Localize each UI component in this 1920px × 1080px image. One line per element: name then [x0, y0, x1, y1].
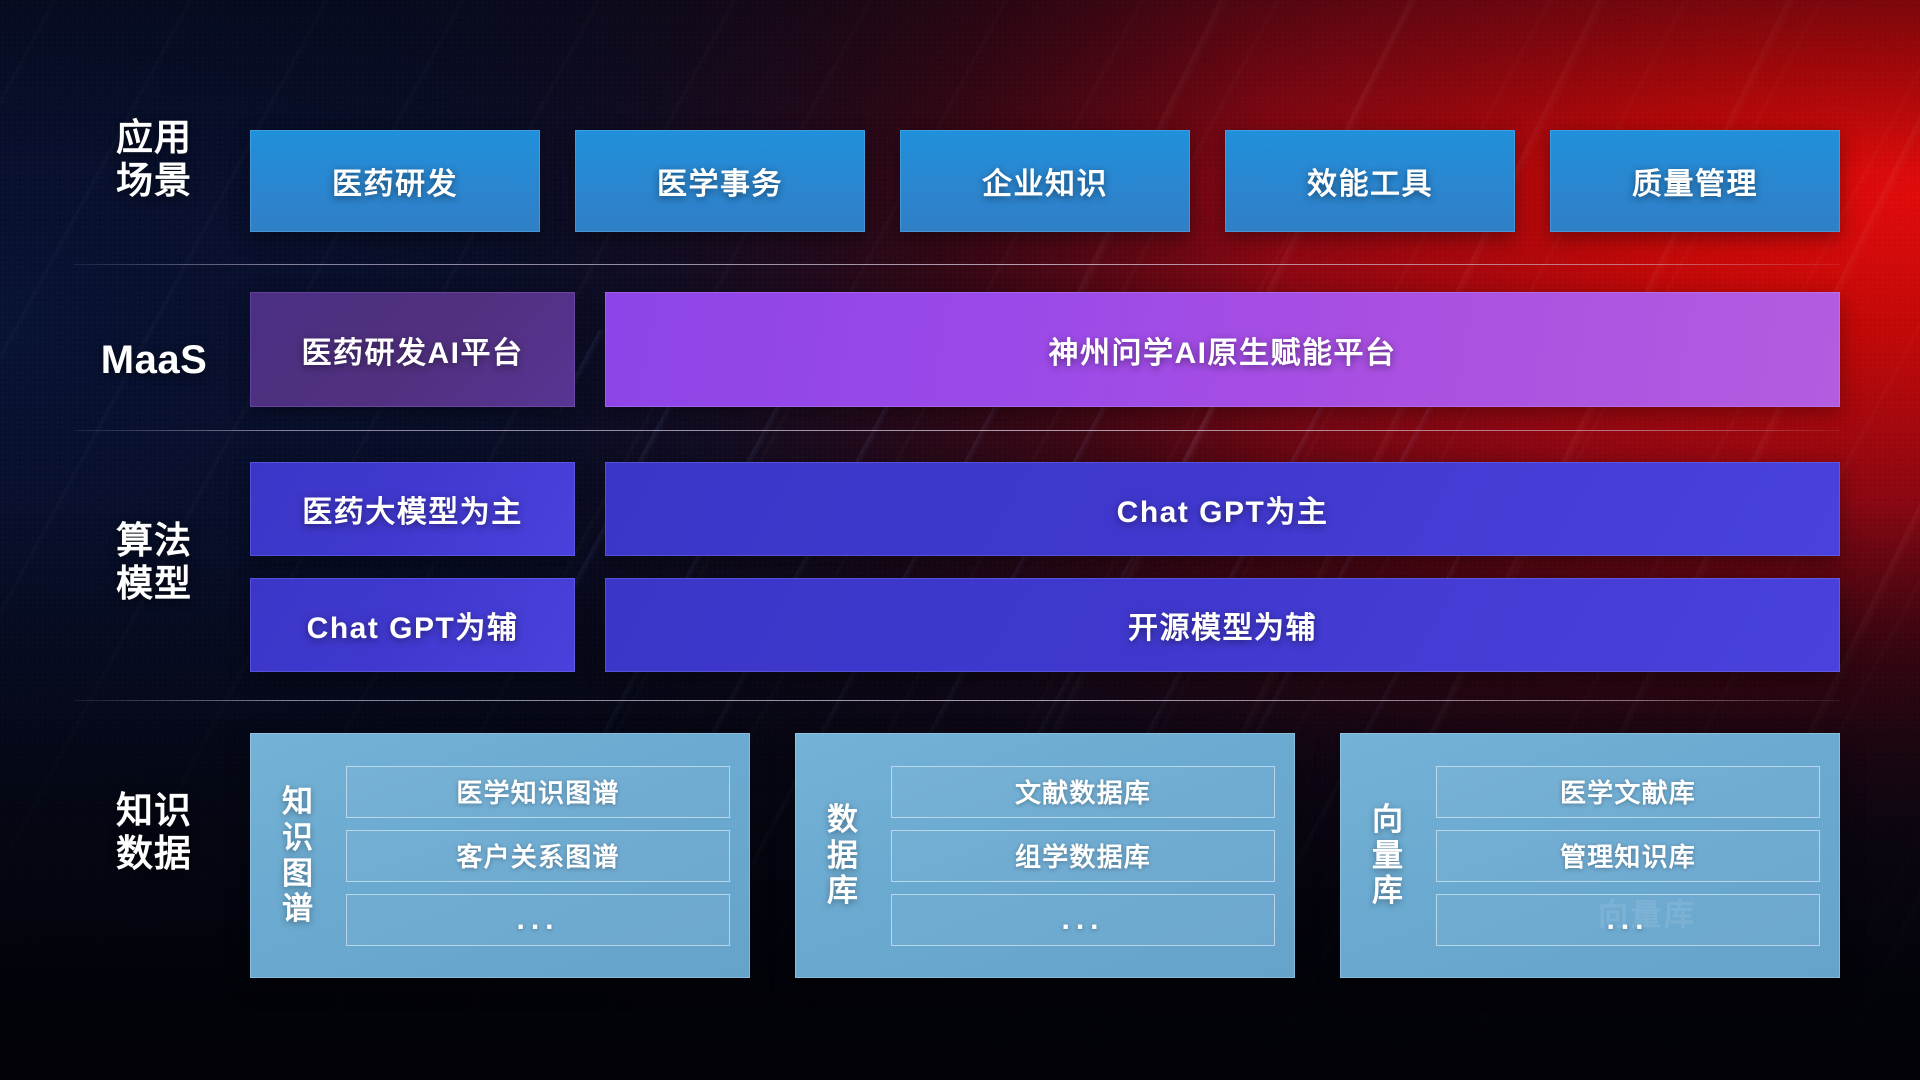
knowledge-panel-vector-store[interactable]: 向 量 库 医学文献库 管理知识库 ...	[1340, 733, 1840, 978]
knowledge-panel-item-list: 医学知识图谱 客户关系图谱 ...	[346, 766, 734, 946]
app-card-quality-management[interactable]: 质量管理	[1550, 130, 1840, 232]
divider-after-application-scenarios	[74, 264, 1840, 265]
slide-canvas: 应用 场景 医药研发 医学事务 企业知识 效能工具 质量管理 MaaS 医药研发…	[0, 0, 1920, 1080]
row-label-application-scenarios: 应用 场景	[74, 117, 234, 203]
database-item-more-ellipsis[interactable]: ...	[891, 894, 1275, 946]
knowledge-item-customer-relation-graph[interactable]: 客户关系图谱	[346, 830, 730, 882]
row-label-line: 模型	[74, 563, 234, 606]
divider-after-maas	[74, 430, 1840, 431]
panel-label-char: 量	[1340, 838, 1436, 874]
divider-after-algorithm-models	[74, 700, 1840, 701]
vector-item-medical-literature-store[interactable]: 医学文献库	[1436, 766, 1820, 818]
knowledge-item-medical-knowledge-graph[interactable]: 医学知识图谱	[346, 766, 730, 818]
row-label-maas: MaaS	[74, 337, 234, 383]
knowledge-panel-knowledge-graph[interactable]: 知 识 图 谱 医学知识图谱 客户关系图谱 ...	[250, 733, 750, 978]
algo-card-opensource-secondary[interactable]: 开源模型为辅	[605, 578, 1840, 672]
algo-card-pharma-llm-primary[interactable]: 医药大模型为主	[250, 462, 575, 556]
vector-item-management-knowledge-store[interactable]: 管理知识库	[1436, 830, 1820, 882]
knowledge-panel-label-knowledge-graph: 知 识 图 谱	[250, 784, 346, 928]
panel-label-char: 识	[250, 820, 346, 856]
knowledge-panel-label-vector-store: 向 量 库	[1340, 802, 1436, 910]
knowledge-item-more-ellipsis[interactable]: ...	[346, 894, 730, 946]
architecture-stack: 应用 场景 医药研发 医学事务 企业知识 效能工具 质量管理 MaaS 医药研发…	[0, 0, 1920, 1080]
row-label-line: 场景	[74, 160, 234, 203]
panel-label-char: 库	[795, 873, 891, 909]
row-label-knowledge-data: 知识 数据	[74, 790, 234, 876]
row-label-algorithm-models: 算法 模型	[74, 520, 234, 606]
knowledge-panel-database[interactable]: 数 据 库 文献数据库 组学数据库 ...	[795, 733, 1295, 978]
panel-label-char: 向	[1340, 802, 1436, 838]
panel-label-char: 图	[250, 856, 346, 892]
row-label-line: MaaS	[74, 337, 234, 383]
knowledge-panel-label-database: 数 据 库	[795, 802, 891, 910]
row-label-line: 知识	[74, 790, 234, 833]
maas-card-pharma-ai-platform[interactable]: 医药研发AI平台	[250, 292, 575, 407]
app-card-medicine-rd[interactable]: 医药研发	[250, 130, 540, 232]
panel-label-char: 知	[250, 784, 346, 820]
panel-label-char: 数	[795, 802, 891, 838]
row-label-line: 算法	[74, 520, 234, 563]
app-card-efficiency-tools[interactable]: 效能工具	[1225, 130, 1515, 232]
row-label-line: 应用	[74, 117, 234, 160]
database-item-literature-db[interactable]: 文献数据库	[891, 766, 1275, 818]
algo-card-chatgpt-secondary[interactable]: Chat GPT为辅	[250, 578, 575, 672]
vector-store-panel-item-list: 医学文献库 管理知识库 ...	[1436, 766, 1824, 946]
app-card-medical-affairs[interactable]: 医学事务	[575, 130, 865, 232]
database-item-omics-db[interactable]: 组学数据库	[891, 830, 1275, 882]
algo-card-chatgpt-primary[interactable]: Chat GPT为主	[605, 462, 1840, 556]
panel-label-char: 据	[795, 838, 891, 874]
database-panel-item-list: 文献数据库 组学数据库 ...	[891, 766, 1279, 946]
app-card-enterprise-knowledge[interactable]: 企业知识	[900, 130, 1190, 232]
panel-label-char: 库	[1340, 873, 1436, 909]
maas-card-shenzhou-wenxue-platform[interactable]: 神州问学AI原生赋能平台	[605, 292, 1840, 407]
row-label-line: 数据	[74, 833, 234, 876]
panel-label-char: 谱	[250, 891, 346, 927]
vector-item-more-ellipsis[interactable]: ...	[1436, 894, 1820, 946]
